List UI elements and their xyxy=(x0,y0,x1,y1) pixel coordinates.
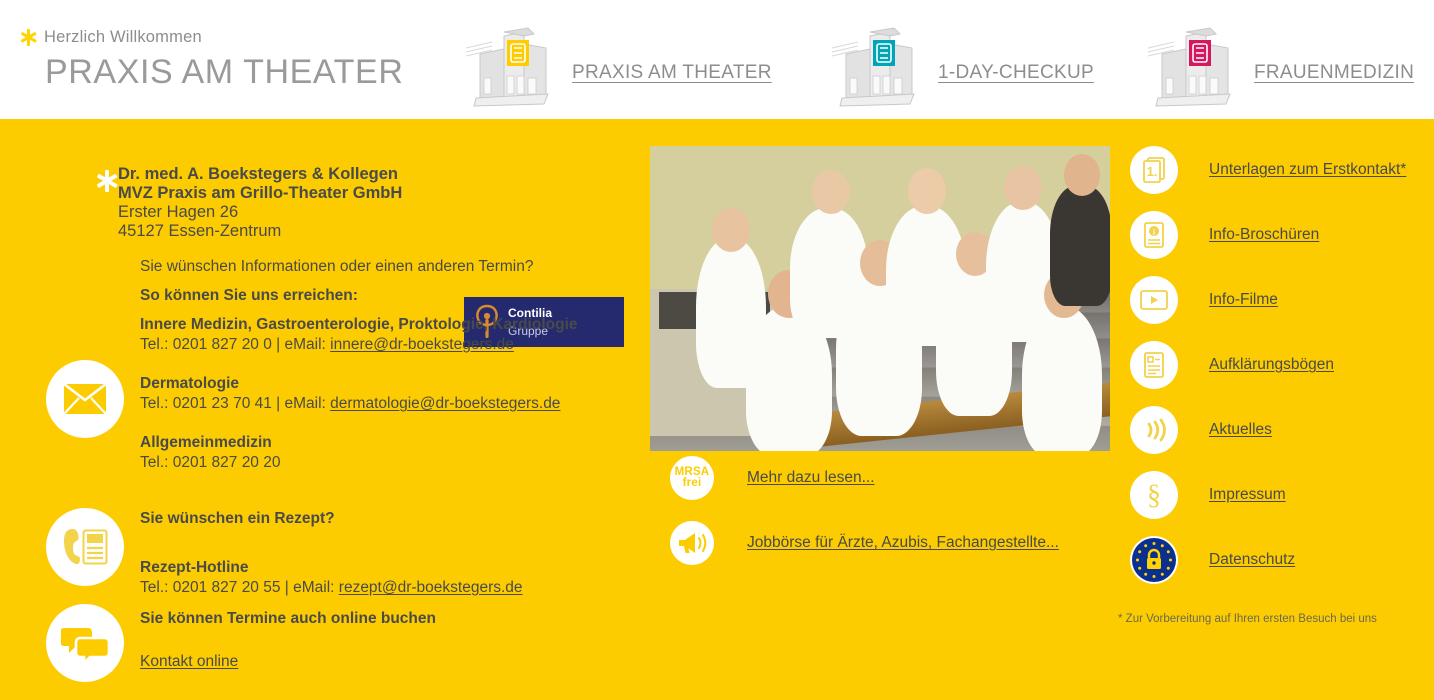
department-name: Dermatologie xyxy=(140,375,239,392)
mrsa-line2: frei xyxy=(683,477,702,489)
broadcast-waves-icon xyxy=(1130,406,1178,454)
chat-bubbles-icon xyxy=(46,604,124,682)
online-booking-block: Sie können Termine auch online buchen Ko… xyxy=(140,609,436,672)
prescription-email-link[interactable]: rezept@dr-boekstegers.de xyxy=(339,579,523,596)
paragraph-section-icon: § xyxy=(1130,471,1178,519)
sidebar-item-unterlagen[interactable]: 1. Unterlagen zum Erstkontakt* xyxy=(1130,146,1406,194)
asterisk-icon xyxy=(20,29,37,46)
department-name: Innere Medizin, Gastroenterologie, Prokt… xyxy=(140,316,578,333)
department-block-0: Innere Medizin, Gastroenterologie, Prokt… xyxy=(140,315,578,355)
sidebar-link[interactable]: Info-Filme xyxy=(1209,291,1278,309)
welcome-text: Herzlich Willkommen xyxy=(44,28,202,47)
department-tel: Tel.: 0201 23 70 41 xyxy=(140,395,272,412)
practice-street: Erster Hagen 26 xyxy=(118,203,468,222)
person-head xyxy=(1004,166,1042,210)
team-photo xyxy=(650,146,1110,451)
prescription-heading: Sie wünschen ein Rezept? xyxy=(140,509,523,529)
mrsa-badge-text: MRSA frei xyxy=(675,467,710,489)
site-header: Herzlich Willkommen PRAXIS AM THEATER xyxy=(0,0,1434,124)
envelope-icon xyxy=(46,360,124,438)
brand-block: Herzlich Willkommen PRAXIS AM THEATER xyxy=(20,28,403,94)
eu-lock-icon xyxy=(1130,536,1178,584)
practice-name-line2: MVZ Praxis am Grillo-Theater GmbH xyxy=(118,184,468,203)
department-email-link[interactable]: dermatologie@dr-boekstegers.de xyxy=(330,395,560,412)
svg-text:1.: 1. xyxy=(1147,164,1158,179)
department-tel: Tel.: 0201 827 20 20 xyxy=(140,454,280,471)
sidebar-item-broschueren[interactable]: i Info-Broschüren xyxy=(1130,211,1319,259)
jobs-link[interactable]: Jobbörse für Ärzte, Azubis, Fachangestel… xyxy=(747,534,1059,552)
department-block-1: Dermatologie Tel.: 0201 23 70 41 | eMail… xyxy=(140,374,560,414)
department-email-link[interactable]: innere@dr-boekstegers.de xyxy=(330,336,514,353)
left-column: Dr. med. A. Boekstegers & Kollegen MVZ P… xyxy=(0,129,640,700)
svg-text:§: § xyxy=(1147,480,1161,510)
building-icon xyxy=(828,22,924,108)
contact-intro-block: Sie wünschen Informationen oder einen an… xyxy=(140,257,534,306)
contact-intro-bold: So können Sie uns erreichen: xyxy=(140,286,534,306)
page-title: PRAXIS AM THEATER xyxy=(45,50,403,94)
mrsa-badge-icon: MRSA frei xyxy=(670,456,714,500)
phone-document-icon xyxy=(46,508,124,586)
sidebar-link[interactable]: Impressum xyxy=(1209,486,1286,504)
practice-city: 45127 Essen-Zentrum xyxy=(118,222,468,241)
documents-one-icon: 1. xyxy=(1130,146,1178,194)
sidebar-link[interactable]: Datenschutz xyxy=(1209,551,1295,569)
department-separator: | eMail: xyxy=(272,395,330,412)
form-document-icon xyxy=(1130,341,1178,389)
sidebar-link[interactable]: Info-Broschüren xyxy=(1209,226,1319,244)
online-contact-link[interactable]: Kontakt online xyxy=(140,653,238,670)
building-icon xyxy=(1144,22,1240,108)
main-content: Dr. med. A. Boekstegers & Kollegen MVZ P… xyxy=(0,129,1434,700)
prescription-tel: Tel.: 0201 827 20 55 xyxy=(140,579,280,596)
nav-item-praxis-am-theater[interactable]: PRAXIS AM THEATER xyxy=(462,22,772,108)
practice-address: Dr. med. A. Boekstegers & Kollegen MVZ P… xyxy=(118,165,468,241)
sidebar-item-aktuelles[interactable]: Aktuelles xyxy=(1130,406,1272,454)
sidebar-item-filme[interactable]: Info-Filme xyxy=(1130,276,1278,324)
asterisk-icon xyxy=(96,170,118,192)
person-head xyxy=(812,170,850,214)
person-head xyxy=(1064,154,1100,196)
online-booking-heading: Sie können Termine auch online buchen xyxy=(140,609,436,629)
mrsa-link-row[interactable]: MRSA frei Mehr dazu lesen... xyxy=(670,456,875,500)
person-head xyxy=(908,168,946,214)
sidebar-link[interactable]: Unterlagen zum Erstkontakt* xyxy=(1209,161,1406,179)
nav-item-1-day-checkup[interactable]: 1-DAY-CHECKUP xyxy=(828,22,1094,108)
nav-label[interactable]: FRAUENMEDIZIN xyxy=(1254,62,1414,108)
megaphone-icon xyxy=(670,521,714,565)
department-tel: Tel.: 0201 827 20 0 xyxy=(140,336,272,353)
person-body xyxy=(1022,306,1102,451)
sidebar-link[interactable]: Aktuelles xyxy=(1209,421,1272,439)
sidebar-footnote: * Zur Vorbereitung auf Ihren ersten Besu… xyxy=(1118,613,1377,625)
mrsa-read-more-link[interactable]: Mehr dazu lesen... xyxy=(747,469,875,487)
department-block-2: Allgemeinmedizin Tel.: 0201 827 20 20 xyxy=(140,433,280,473)
prescription-hotline-label: Rezept-Hotline xyxy=(140,558,523,578)
practice-name-line1: Dr. med. A. Boekstegers & Kollegen xyxy=(118,165,468,184)
svg-text:i: i xyxy=(1153,228,1155,237)
nav-item-frauenmedizin[interactable]: FRAUENMEDIZIN xyxy=(1144,22,1414,108)
sidebar-link[interactable]: Aufklärungsbögen xyxy=(1209,356,1334,374)
info-document-icon: i xyxy=(1130,211,1178,259)
building-icon xyxy=(462,22,558,108)
person-head xyxy=(712,208,750,252)
person-body xyxy=(1050,186,1110,306)
sidebar-item-aufklaerungsboegen[interactable]: Aufklärungsbögen xyxy=(1130,341,1334,389)
sidebar-item-datenschutz[interactable]: Datenschutz xyxy=(1130,536,1295,584)
prescription-separator: | eMail: xyxy=(280,579,338,596)
prescription-block: Sie wünschen ein Rezept? Rezept-Hotline … xyxy=(140,509,523,598)
nav-label[interactable]: 1-DAY-CHECKUP xyxy=(938,62,1094,108)
nav-label[interactable]: PRAXIS AM THEATER xyxy=(572,62,772,108)
brand-welcome-row: Herzlich Willkommen xyxy=(20,28,403,47)
page-root: Herzlich Willkommen PRAXIS AM THEATER xyxy=(0,0,1434,700)
department-name: Allgemeinmedizin xyxy=(140,434,272,451)
video-play-icon xyxy=(1130,276,1178,324)
contact-intro: Sie wünschen Informationen oder einen an… xyxy=(140,257,534,277)
department-separator: | eMail: xyxy=(272,336,330,353)
jobs-link-row[interactable]: Jobbörse für Ärzte, Azubis, Fachangestel… xyxy=(670,521,1059,565)
sidebar-item-impressum[interactable]: § Impressum xyxy=(1130,471,1286,519)
